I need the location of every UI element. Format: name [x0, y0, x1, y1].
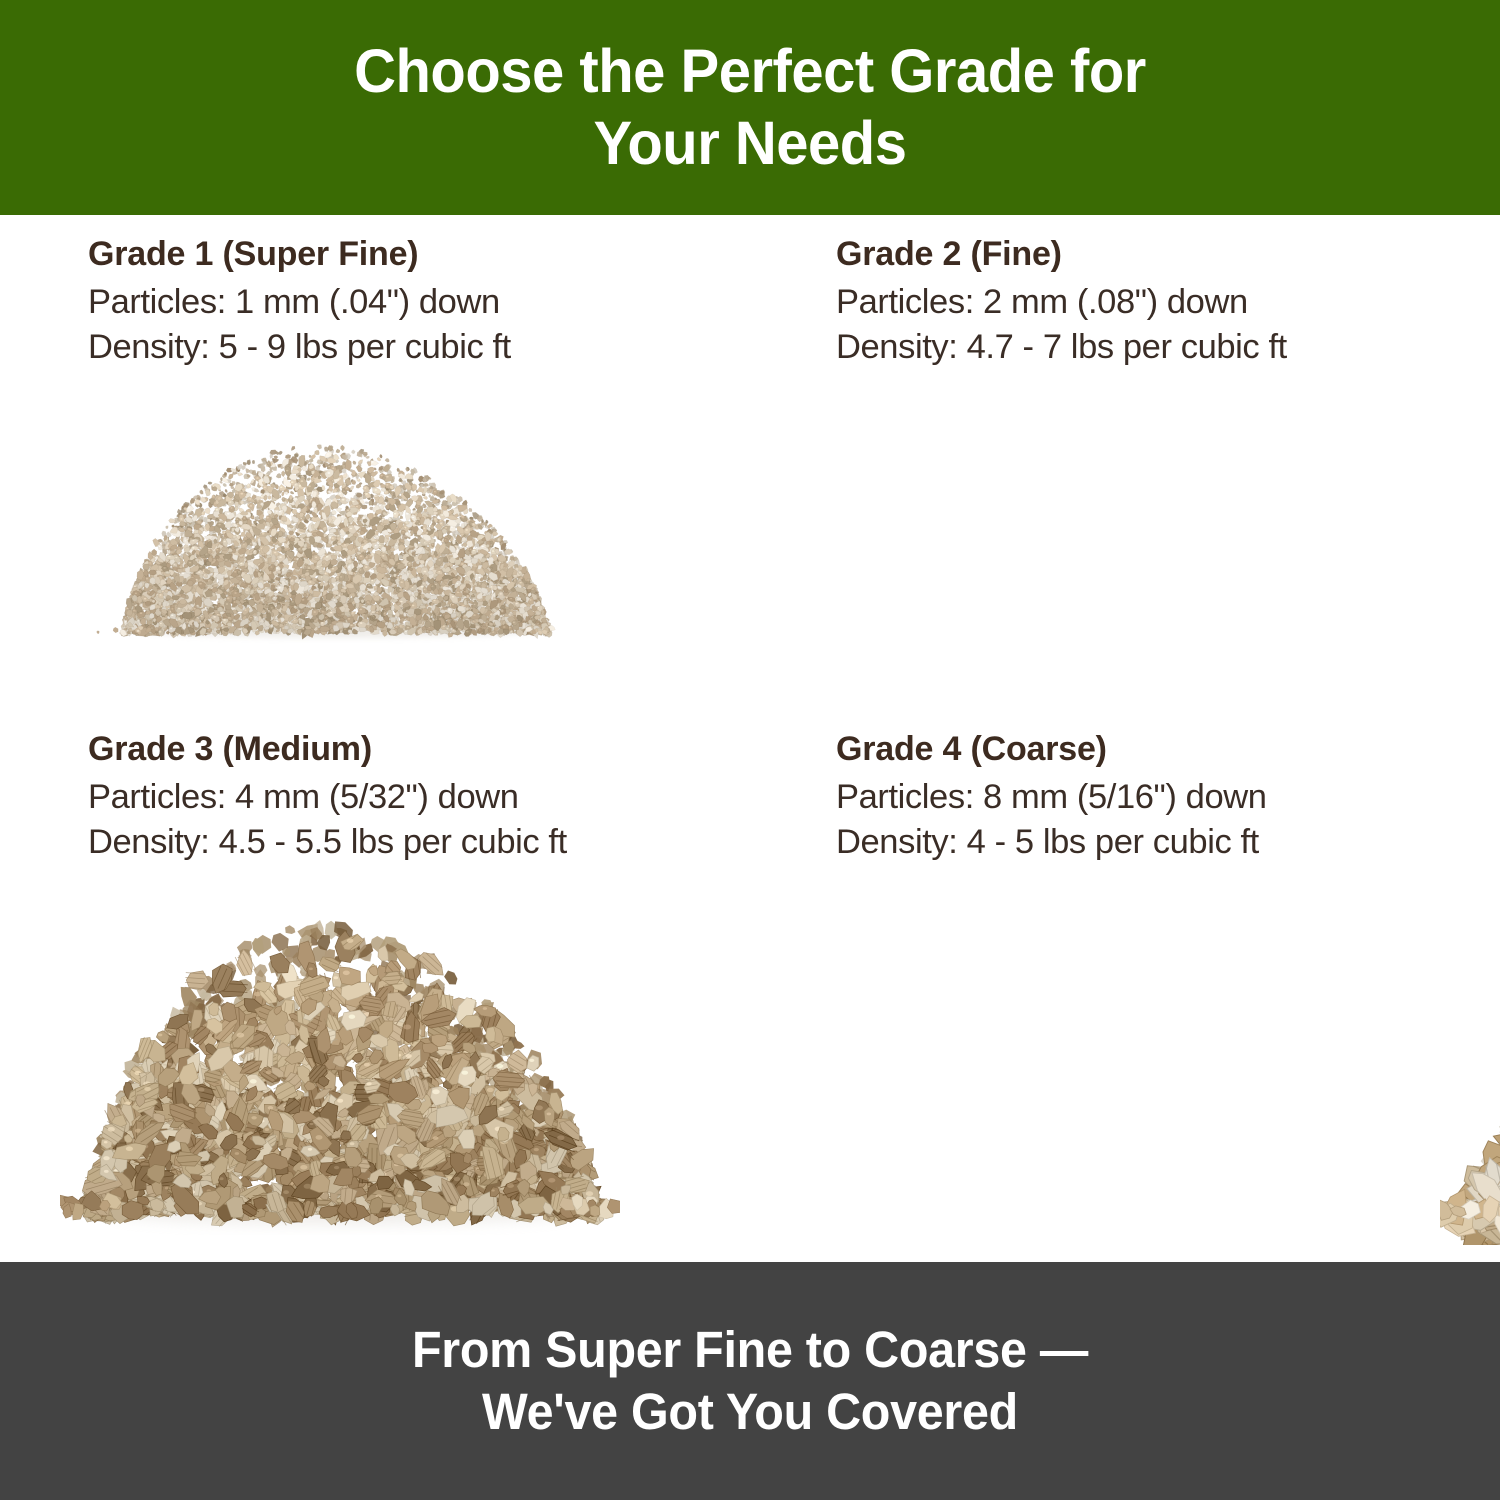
footer-title: From Super Fine to Coarse — We've Got Yo… [180, 1319, 1320, 1443]
infographic-page: Choose the Perfect Grade for Your Needs … [0, 0, 1500, 1500]
grade-card-4: Grade 4 (Coarse) Particles: 8 mm (5/16")… [750, 720, 1500, 1262]
grade-1-density: Density: 5 - 9 lbs per cubic ft [88, 325, 511, 370]
footer-banner: From Super Fine to Coarse — We've Got Yo… [0, 1262, 1500, 1500]
grade-card-2: Grade 2 (Fine) Particles: 2 mm (.08") do… [750, 215, 1500, 735]
grade-grid: Grade 1 (Super Fine) Particles: 1 mm (.0… [0, 215, 1500, 1262]
grade-2-text-block: Grade 2 (Fine) Particles: 2 mm (.08") do… [836, 237, 1287, 370]
grade-1-pile-image [95, 405, 565, 650]
grade-3-title: Grade 3 (Medium) [88, 732, 567, 766]
grade-3-pile-image [60, 905, 620, 1235]
grade-4-pile-image [1440, 945, 1500, 1245]
grade-2-particles: Particles: 2 mm (.08") down [836, 280, 1287, 325]
header-title-line-1: Choose the Perfect Grade for [190, 36, 1311, 108]
header-title-line-2: Your Needs [190, 108, 1311, 180]
header-title: Choose the Perfect Grade for Your Needs [190, 36, 1311, 180]
grade-3-text-block: Grade 3 (Medium) Particles: 4 mm (5/32")… [88, 732, 567, 865]
grade-2-title: Grade 2 (Fine) [836, 237, 1287, 271]
grade-4-text-block: Grade 4 (Coarse) Particles: 8 mm (5/16")… [836, 732, 1267, 865]
footer-title-line-1: From Super Fine to Coarse — [180, 1319, 1320, 1381]
grade-3-density: Density: 4.5 - 5.5 lbs per cubic ft [88, 820, 567, 865]
grade-3-particles: Particles: 4 mm (5/32") down [88, 775, 567, 820]
grade-1-title: Grade 1 (Super Fine) [88, 237, 511, 271]
grade-1-text-block: Grade 1 (Super Fine) Particles: 1 mm (.0… [88, 237, 511, 370]
grade-4-title: Grade 4 (Coarse) [836, 732, 1267, 766]
grade-4-density: Density: 4 - 5 lbs per cubic ft [836, 820, 1267, 865]
grade-card-1: Grade 1 (Super Fine) Particles: 1 mm (.0… [0, 215, 750, 735]
header-banner: Choose the Perfect Grade for Your Needs [0, 0, 1500, 215]
grade-1-particles: Particles: 1 mm (.04") down [88, 280, 511, 325]
grade-4-particles: Particles: 8 mm (5/16") down [836, 775, 1267, 820]
footer-title-line-2: We've Got You Covered [180, 1381, 1320, 1443]
grade-2-density: Density: 4.7 - 7 lbs per cubic ft [836, 325, 1287, 370]
grade-card-3: Grade 3 (Medium) Particles: 4 mm (5/32")… [0, 720, 750, 1262]
